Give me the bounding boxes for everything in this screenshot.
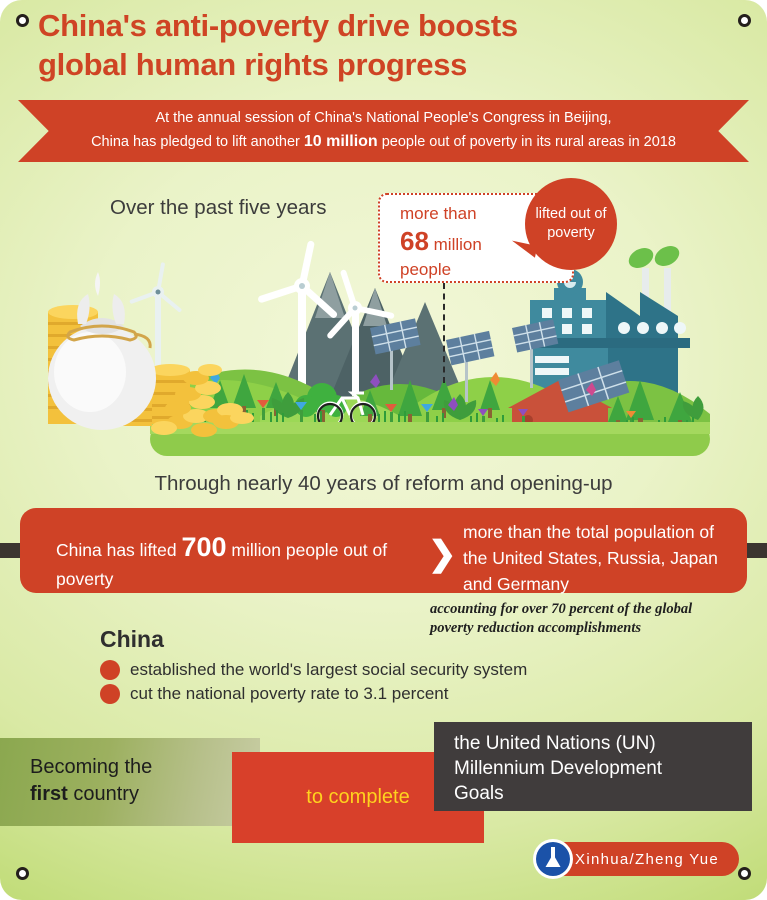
page-title-line-1: China's anti-poverty drive boosts	[38, 6, 678, 45]
bullet-dot-icon	[100, 684, 120, 704]
reform-label: Through nearly 40 years of reform and op…	[0, 472, 767, 496]
ribbon-line-1: At the annual session of China's Nationa…	[155, 107, 611, 129]
accounting-note: accounting for over 70 percent of the gl…	[430, 600, 750, 639]
lifted-700-million-bar: China has lifted 700 million people out …	[20, 508, 747, 593]
screw-hole-bottom-left	[16, 867, 29, 880]
chevron-right-icon: ❯	[428, 537, 457, 571]
xinhua-logo-icon	[533, 839, 573, 879]
list-item: cut the national poverty rate to 3.1 per…	[100, 684, 700, 704]
olive-line-2-rest: country	[68, 783, 139, 805]
china-bullet-list: established the world's largest social s…	[100, 660, 700, 708]
becoming-first-country-box: Becoming the first country	[0, 738, 260, 826]
to-complete-label: to complete	[306, 786, 409, 809]
accounting-line-2: poverty reduction accomplishments	[430, 619, 750, 638]
ribbon-line-2: China has pledged to lift another 10 mil…	[91, 130, 676, 155]
olive-line-1: Becoming the	[30, 754, 260, 781]
un-goals-line-1: the United Nations (UN)	[454, 731, 752, 756]
olive-line-2: first country	[30, 781, 260, 808]
past-years-label: Over the past five years	[110, 196, 326, 220]
ribbon-line-2-b: people out of poverty in its rural areas…	[378, 134, 676, 150]
olive-bold-word: first	[30, 783, 68, 805]
page-title: China's anti-poverty drive boosts global…	[38, 6, 678, 84]
callout-connector-line	[443, 283, 445, 383]
ribbon-text: At the annual session of China's Nationa…	[18, 100, 749, 162]
accounting-line-1: accounting for over 70 percent of the gl…	[430, 600, 750, 619]
xinhua-logo-inner	[536, 842, 570, 876]
credit-badge: Xinhua/Zheng Yue	[535, 842, 739, 876]
redbar-left-a: China has lifted	[56, 540, 182, 560]
bullet-text: established the world's largest social s…	[130, 660, 527, 680]
screw-hole-top-right	[738, 14, 751, 27]
un-goals-line-3: Goals	[454, 781, 752, 806]
bullet-text: cut the national poverty rate to 3.1 per…	[130, 684, 448, 704]
redbar-right-text: more than the total population of the Un…	[463, 520, 738, 598]
callout-unit: million	[429, 235, 482, 254]
ribbon-line-2-a: China has pledged to lift another	[91, 134, 304, 150]
callout-number: 68	[400, 226, 429, 256]
page-title-line-2: global human rights progress	[38, 45, 678, 84]
lifted-out-of-poverty-bubble: lifted out of poverty	[525, 178, 617, 270]
subtitle-ribbon: At the annual session of China's Nationa…	[18, 100, 749, 162]
infographic-board: China's anti-poverty drive boosts global…	[0, 0, 767, 900]
screw-hole-top-left	[16, 14, 29, 27]
bullet-dot-icon	[100, 660, 120, 680]
redbar-number: 700	[182, 532, 227, 562]
ribbon-highlight: 10 million	[304, 133, 378, 150]
un-goals-box: the United Nations (UN) Millennium Devel…	[434, 722, 752, 811]
redbar-left-text: China has lifted 700 million people out …	[56, 528, 426, 593]
credit-text: Xinhua/Zheng Yue	[575, 851, 719, 868]
screw-hole-bottom-right	[738, 867, 751, 880]
china-heading: China	[100, 626, 164, 653]
list-item: established the world's largest social s…	[100, 660, 700, 680]
un-goals-line-2: Millennium Development	[454, 756, 752, 781]
